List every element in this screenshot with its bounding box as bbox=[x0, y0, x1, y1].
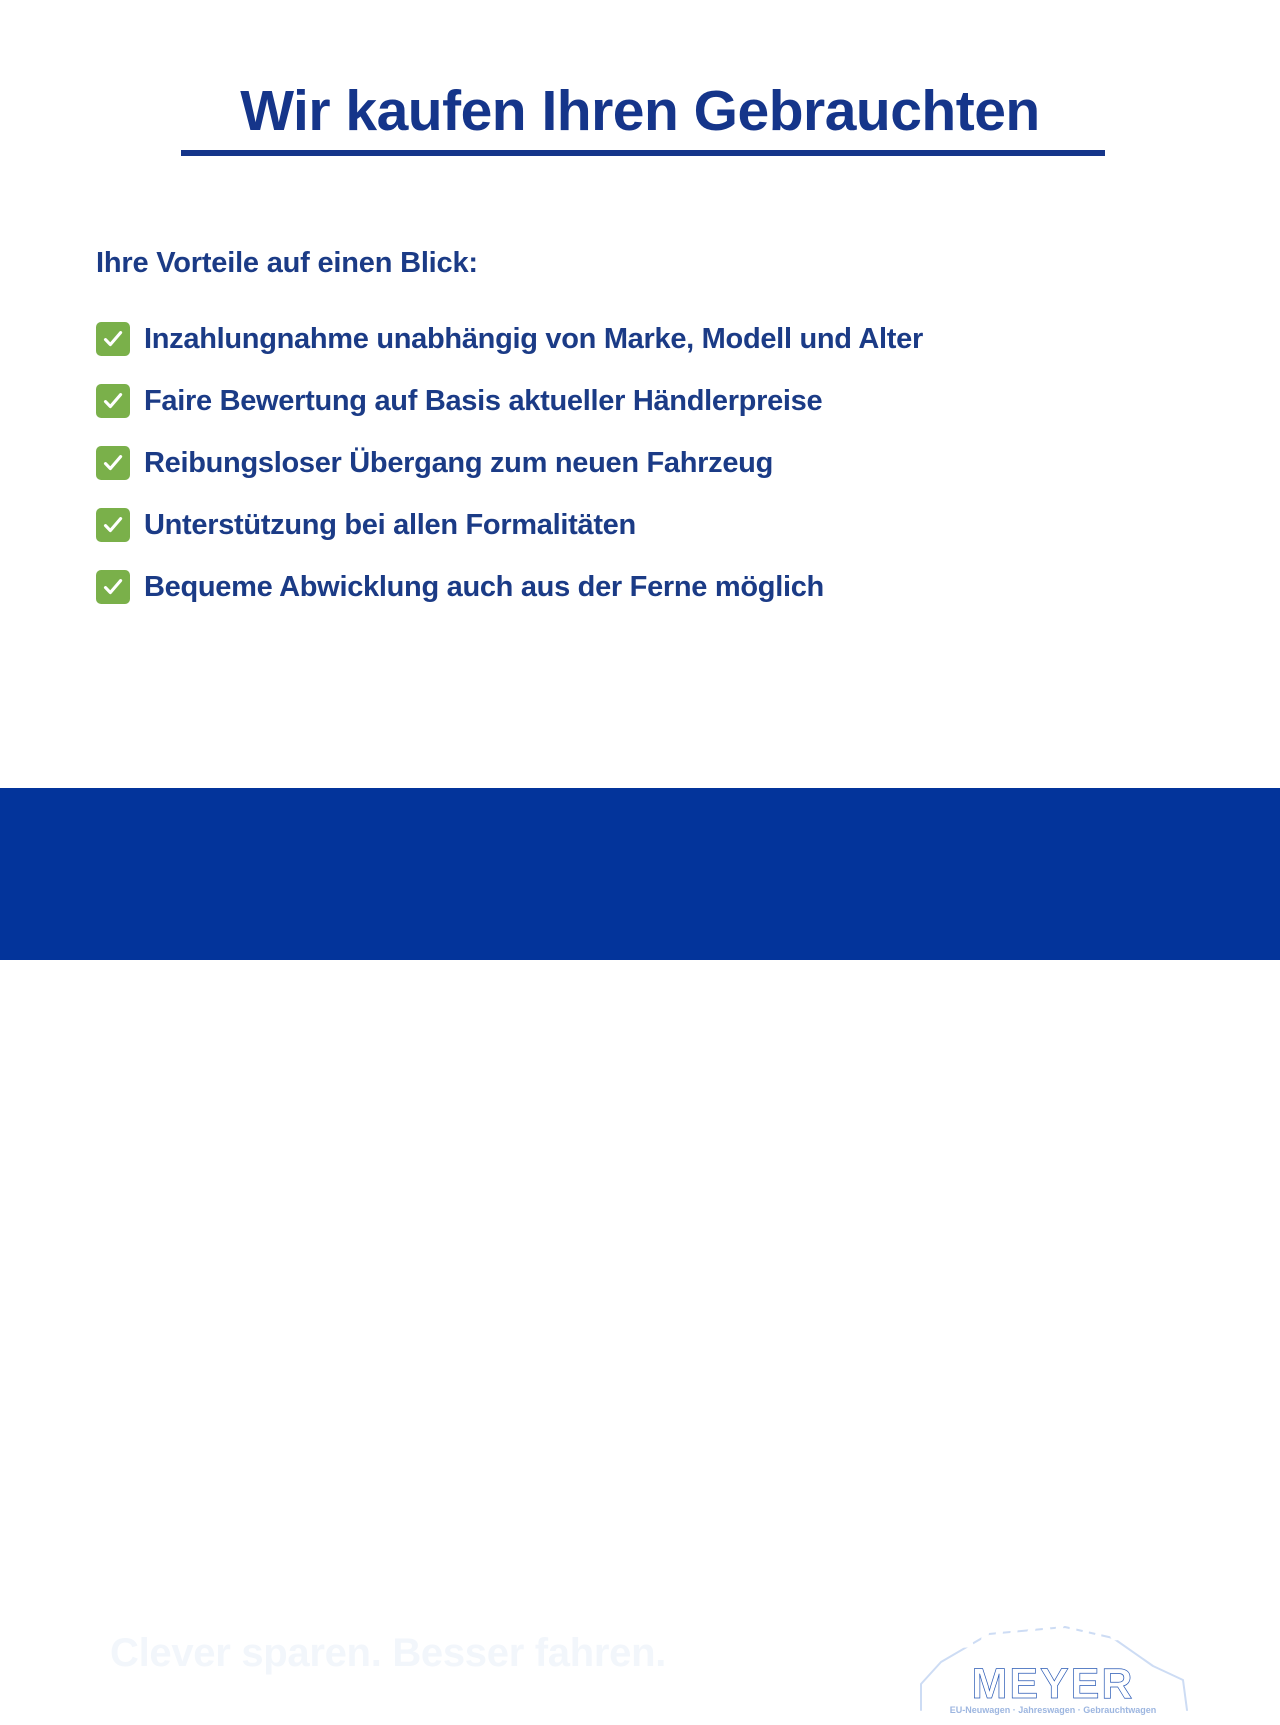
list-item: Reibungsloser Übergang zum neuen Fahrzeu… bbox=[96, 432, 1236, 494]
check-icon bbox=[96, 446, 130, 480]
check-icon bbox=[96, 384, 130, 418]
page-title: Wir kaufen Ihren Gebrauchten bbox=[0, 78, 1280, 144]
list-item-label: Faire Bewertung auf Basis aktueller Händ… bbox=[144, 387, 822, 416]
slide-canvas: Wir kaufen Ihren Gebrauchten Ihre Vortei… bbox=[0, 0, 1280, 960]
check-icon bbox=[96, 570, 130, 604]
check-icon bbox=[96, 322, 130, 356]
list-item-label: Unterstützung bei allen Formalitäten bbox=[144, 511, 636, 540]
title-underline-rule bbox=[181, 150, 1105, 156]
logo-tagline-text: EU-Neuwagen · Jahreswagen · Gebrauchtwag… bbox=[950, 1705, 1157, 1715]
list-item-label: Reibungsloser Übergang zum neuen Fahrzeu… bbox=[144, 449, 773, 478]
list-item: Unterstützung bei allen Formalitäten bbox=[96, 494, 1236, 556]
list-item: Bequeme Abwicklung auch aus der Ferne mö… bbox=[96, 556, 1236, 618]
list-item: Inzahlungnahme unabhängig von Marke, Mod… bbox=[96, 308, 1236, 370]
list-item-label: Bequeme Abwicklung auch aus der Ferne mö… bbox=[144, 573, 824, 602]
check-icon bbox=[96, 508, 130, 542]
benefits-heading: Ihre Vorteile auf einen Blick: bbox=[96, 247, 478, 280]
footer-bar: Clever sparen. Besser fahren. Autohaus M… bbox=[0, 788, 1280, 960]
footer-slogan: Clever sparen. Besser fahren. bbox=[110, 1631, 666, 1676]
list-item-label: Inzahlungnahme unabhängig von Marke, Mod… bbox=[144, 325, 923, 354]
list-item: Faire Bewertung auf Basis aktueller Händ… bbox=[96, 370, 1236, 432]
dealer-logo: Autohaus MEYER EU-Neuwagen · Jahreswagen… bbox=[915, 1610, 1190, 1725]
benefits-list: Inzahlungnahme unabhängig von Marke, Mod… bbox=[96, 308, 1236, 618]
logo-name-text: MEYER bbox=[972, 1660, 1135, 1708]
